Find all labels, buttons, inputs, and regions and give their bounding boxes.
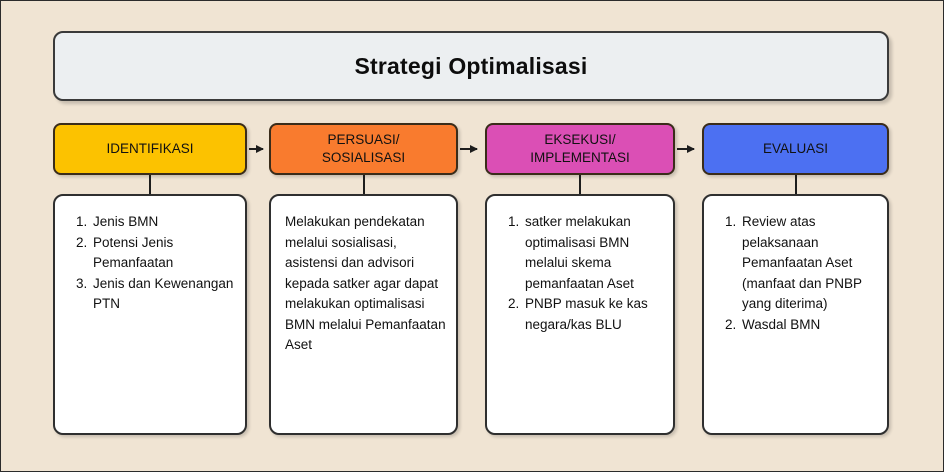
connector-identifikasi bbox=[149, 175, 151, 194]
stage-header-persuasi[interactable]: PERSUASI/ SOSIALISASI bbox=[269, 123, 458, 175]
stage-header-evaluasi[interactable]: EVALUASI bbox=[702, 123, 889, 175]
arrow-identifikasi-to-persuasi bbox=[249, 148, 263, 150]
connector-eksekusi bbox=[579, 175, 581, 194]
diagram-canvas: Strategi Optimalisasi IDENTIFIKASI PERSU… bbox=[0, 0, 944, 472]
stage-header-label: PERSUASI/ SOSIALISASI bbox=[322, 131, 405, 167]
stage-item-list: Jenis BMN Potensi Jenis Pemanfaatan Jeni… bbox=[65, 212, 235, 315]
stage-header-label: EVALUASI bbox=[763, 140, 828, 158]
list-item: Potensi Jenis Pemanfaatan bbox=[91, 233, 235, 274]
stage-body-evaluasi: Review atas pelaksanaan Pemanfaatan Aset… bbox=[702, 194, 889, 435]
stage-body-identifikasi: Jenis BMN Potensi Jenis Pemanfaatan Jeni… bbox=[53, 194, 247, 435]
connector-persuasi bbox=[363, 175, 365, 194]
list-item: Review atas pelaksanaan Pemanfaatan Aset… bbox=[740, 212, 877, 315]
connector-evaluasi bbox=[795, 175, 797, 194]
stage-header-eksekusi[interactable]: EKSEKUSI/ IMPLEMENTASI bbox=[485, 123, 675, 175]
list-item: Jenis BMN bbox=[91, 212, 235, 233]
stage-header-identifikasi[interactable]: IDENTIFIKASI bbox=[53, 123, 247, 175]
stage-paragraph: Melakukan pendekatan melalui sosialisasi… bbox=[281, 212, 446, 356]
stage-body-eksekusi: satker melakukan optimalisasi BMN melalu… bbox=[485, 194, 675, 435]
list-item: Jenis dan Kewenangan PTN bbox=[91, 274, 235, 315]
stage-header-label: EKSEKUSI/ IMPLEMENTASI bbox=[530, 131, 630, 167]
list-item: satker melakukan optimalisasi BMN melalu… bbox=[523, 212, 663, 294]
arrow-persuasi-to-eksekusi bbox=[460, 148, 477, 150]
stage-body-persuasi: Melakukan pendekatan melalui sosialisasi… bbox=[269, 194, 458, 435]
stage-header-label: IDENTIFIKASI bbox=[106, 140, 193, 158]
list-item: Wasdal BMN bbox=[740, 315, 877, 336]
list-item: PNBP masuk ke kas negara/kas BLU bbox=[523, 294, 663, 335]
diagram-title-box: Strategi Optimalisasi bbox=[53, 31, 889, 101]
page-title: Strategi Optimalisasi bbox=[355, 53, 588, 80]
stage-item-list: Review atas pelaksanaan Pemanfaatan Aset… bbox=[714, 212, 877, 335]
stage-item-list: satker melakukan optimalisasi BMN melalu… bbox=[497, 212, 663, 335]
arrow-eksekusi-to-evaluasi bbox=[677, 148, 694, 150]
